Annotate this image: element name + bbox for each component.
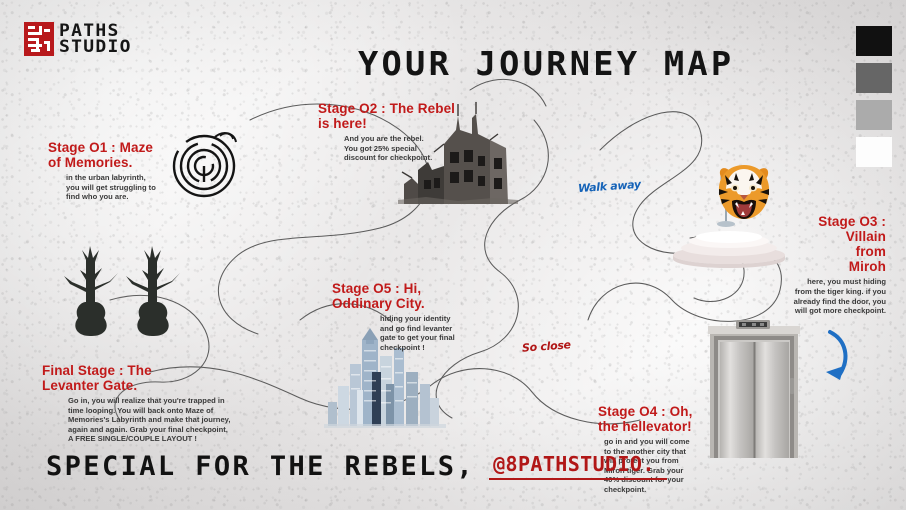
swatch-white bbox=[856, 137, 892, 167]
stage-03-body: here, you must hiding from the tiger kin… bbox=[742, 277, 886, 315]
maze-icon bbox=[168, 128, 240, 200]
stage-04-heading: Stage O4 : Oh, the hellevator! bbox=[598, 404, 718, 434]
swatch-black bbox=[856, 26, 892, 56]
stage-02-block: Stage O2 : The Rebel is here! And you ar… bbox=[318, 101, 496, 163]
puzzle-square-icon bbox=[24, 22, 54, 56]
paths-studio-logo[interactable]: PATHS STUDIO bbox=[24, 22, 128, 56]
stage-05-heading: Stage O5 : Hi, Oddinary City. bbox=[332, 281, 502, 311]
stage-01-block: Stage O1 : Maze of Memories. in the urba… bbox=[48, 140, 178, 202]
stage-05-block: Stage O5 : Hi, Oddinary City. hiding you… bbox=[332, 281, 502, 352]
stage-03-heading: Stage O3 : Villain from Miroh bbox=[742, 214, 886, 274]
footer-tagline: SPECIAL FOR THE REBELS, bbox=[46, 451, 475, 482]
final-stage-body: Go in, you will realize that you're trap… bbox=[68, 396, 252, 444]
stage-02-body: And you are the rebel. You got 25% speci… bbox=[344, 134, 496, 163]
final-stage-block: Final Stage : The Levanter Gate. Go in, … bbox=[42, 363, 252, 444]
journey-map-poster: PATHS STUDIO YOUR JOURNEY MAP Stage O1 :… bbox=[0, 0, 906, 510]
logo-line-2: STUDIO bbox=[59, 39, 132, 55]
swatch-light-gray bbox=[856, 100, 892, 130]
instagram-handle[interactable]: @8PATHSTUDIO. bbox=[489, 452, 667, 480]
stage-05-body: hiding your identity and go find levante… bbox=[380, 314, 502, 352]
logo-wordmark: PATHS STUDIO bbox=[59, 23, 128, 55]
stage-01-heading: Stage O1 : Maze of Memories. bbox=[48, 140, 178, 170]
color-swatch-strip bbox=[856, 26, 892, 167]
footer-banner: SPECIAL FOR THE REBELS, @8PATHSTUDIO. bbox=[46, 451, 667, 482]
tree-silhouettes-image bbox=[60, 240, 180, 340]
stage-02-heading: Stage O2 : The Rebel is here! bbox=[318, 101, 496, 131]
stage-03-block: Stage O3 : Villain from Miroh here, you … bbox=[742, 214, 886, 316]
stage-01-body: in the urban labyrinth, you will get str… bbox=[66, 173, 178, 202]
blue-arrow-icon bbox=[796, 330, 852, 396]
page-title: YOUR JOURNEY MAP bbox=[358, 44, 827, 83]
swatch-dark-gray bbox=[856, 63, 892, 93]
elevator-image bbox=[708, 318, 800, 458]
final-stage-heading: Final Stage : The Levanter Gate. bbox=[42, 363, 252, 393]
